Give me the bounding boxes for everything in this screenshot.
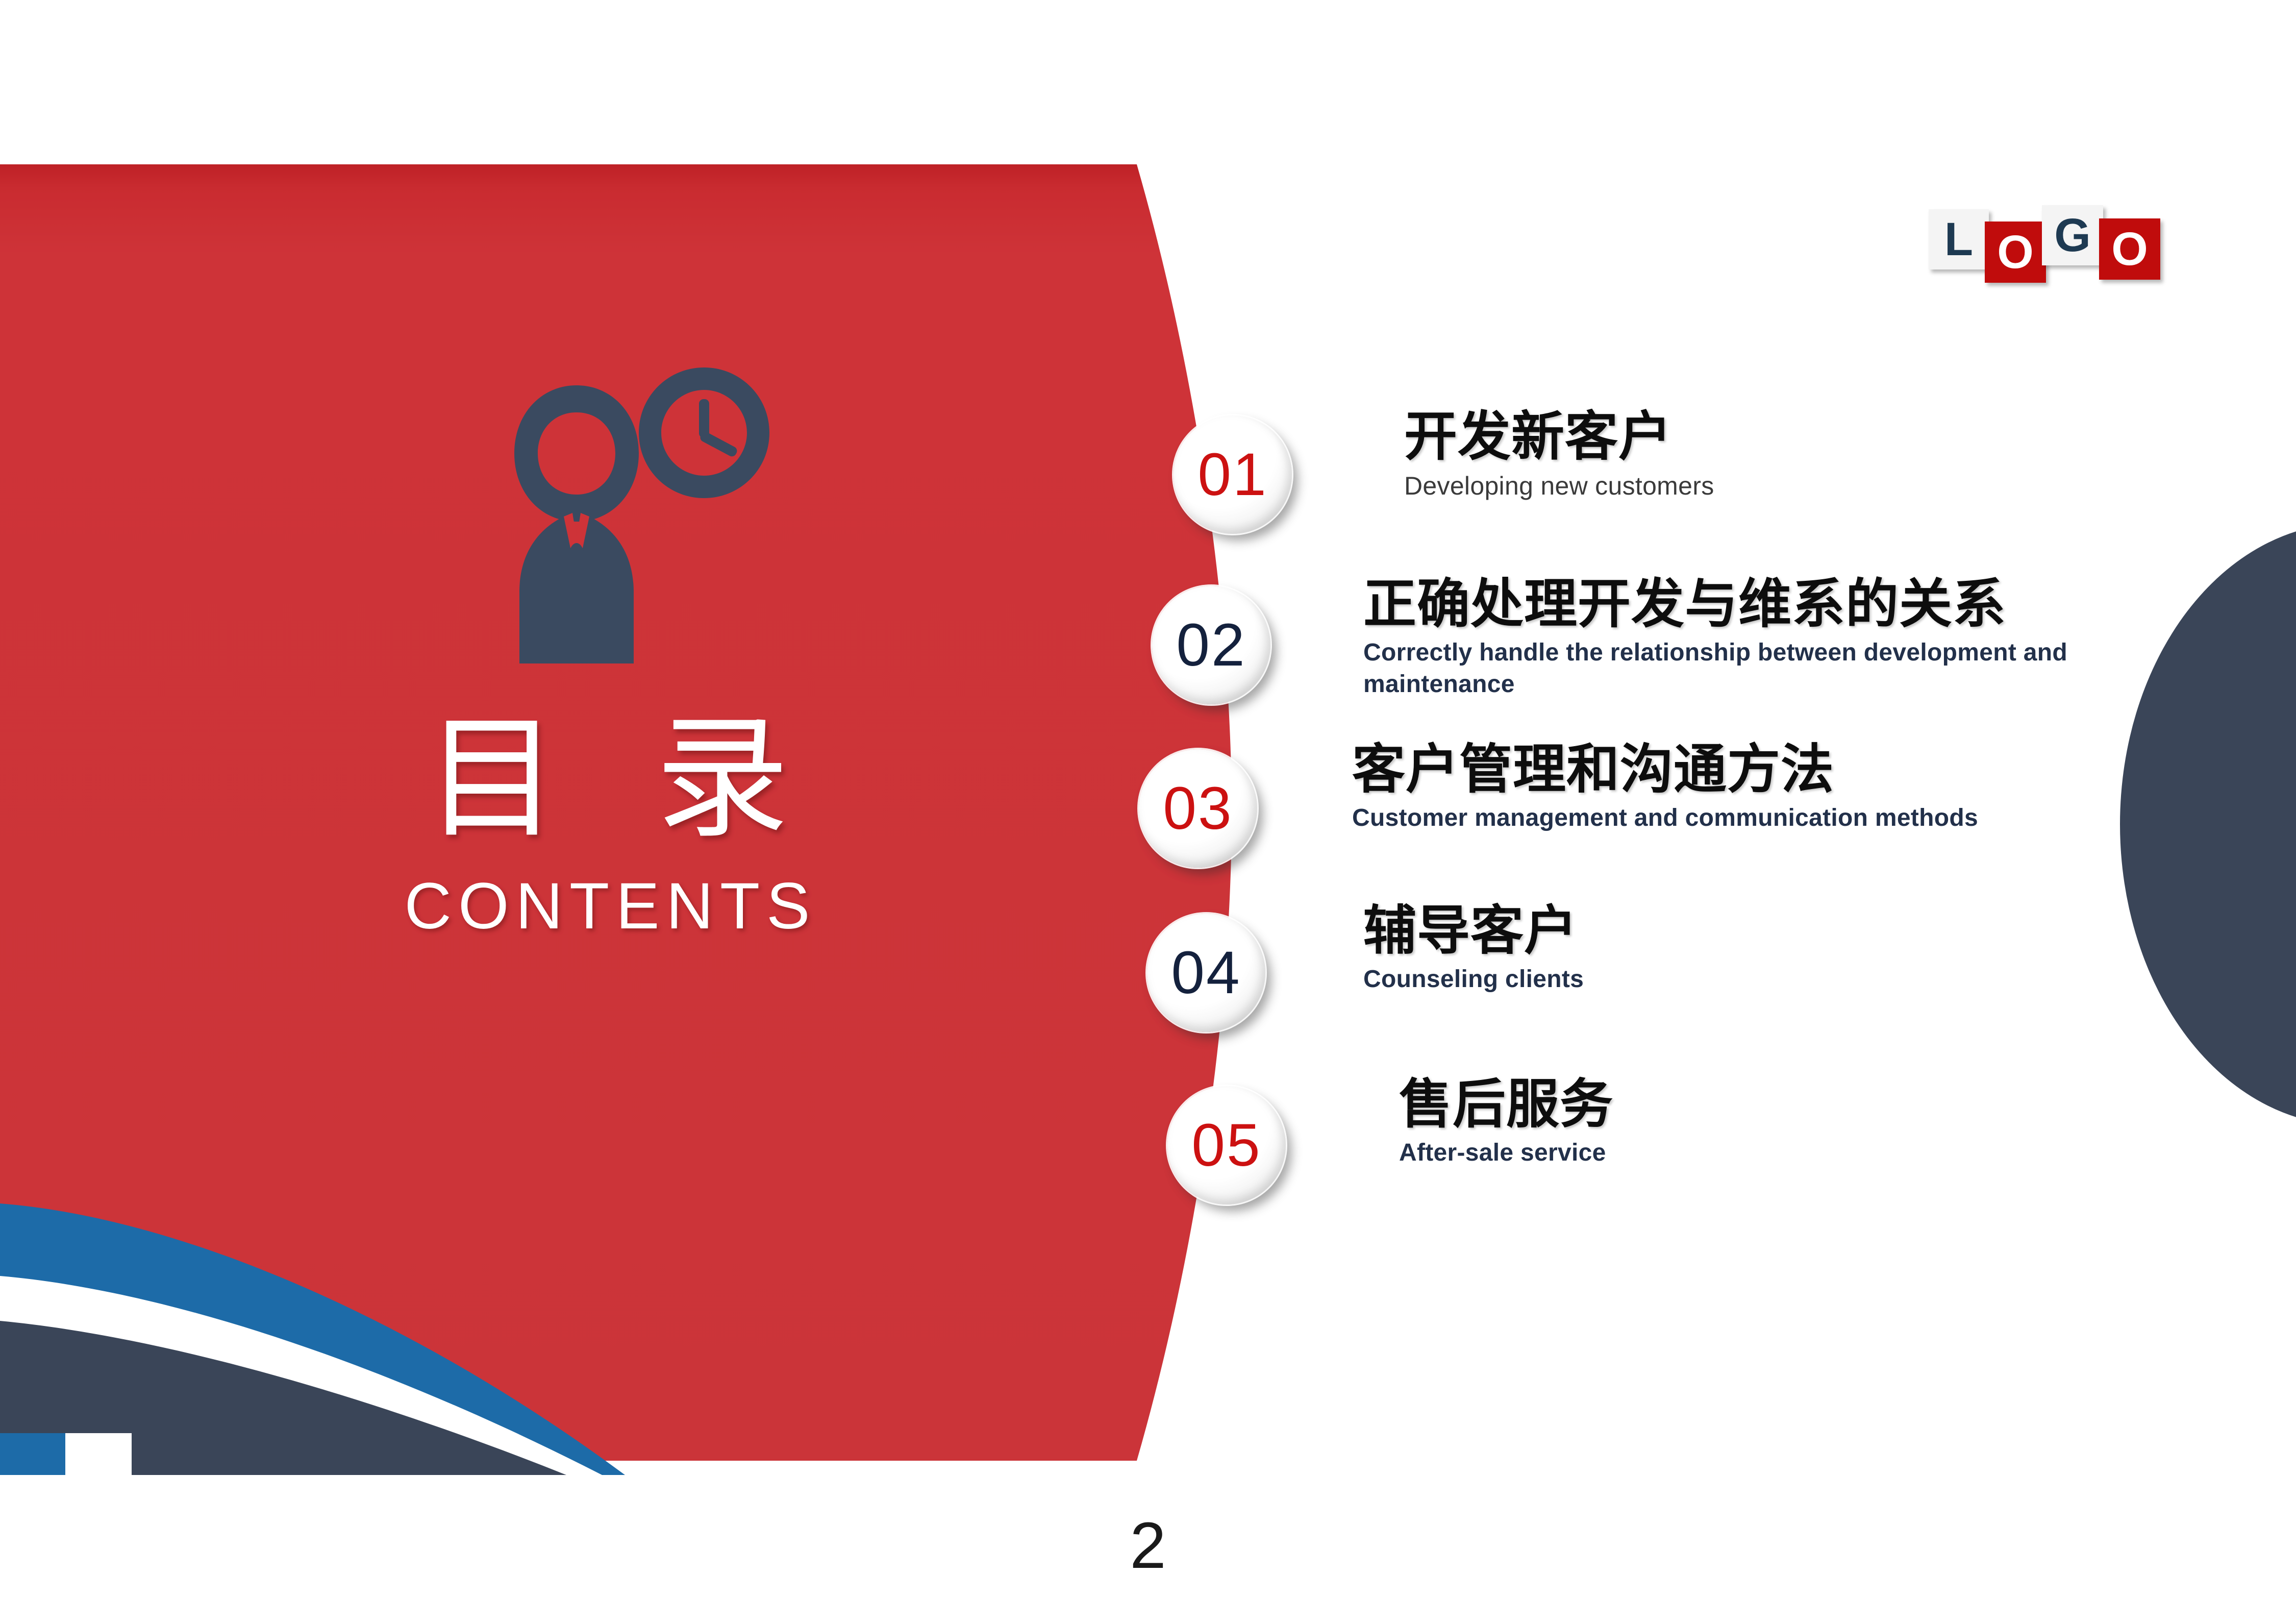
agenda-subtitle-05: After-sale service [1399,1137,2195,1168]
agenda-title-02: 正确处理开发与维系的关系 [1363,576,2124,633]
agenda-list: 01 开发新客户 Developing new customers 02 正确处… [0,0,2296,1623]
agenda-subtitle-04: Counseling clients [1363,964,2159,995]
agenda-subtitle-01: Developing new customers [1404,470,2200,502]
agenda-number-04: 04 [1171,943,1241,1003]
agenda-badge-01[interactable]: 01 [1174,415,1292,534]
agenda-number-01: 01 [1197,445,1267,505]
page-number: 2 [1097,1508,1199,1583]
agenda-title-04: 辅导客户 [1363,902,2159,960]
agenda-number-05: 05 [1191,1115,1261,1175]
agenda-badge-02[interactable]: 02 [1152,586,1270,704]
agenda-title-01: 开发新客户 [1404,408,2200,465]
agenda-title-03: 客户管理和沟通方法 [1352,741,2148,798]
agenda-number-02: 02 [1176,615,1246,675]
agenda-badge-03[interactable]: 03 [1139,749,1257,868]
agenda-badge-05[interactable]: 05 [1167,1086,1286,1204]
agenda-title-05: 售后服务 [1399,1076,2195,1133]
agenda-subtitle-03: Customer management and communication me… [1352,802,2148,833]
agenda-number-03: 03 [1163,778,1233,839]
agenda-badge-04[interactable]: 04 [1147,914,1265,1032]
agenda-subtitle-02: Correctly handle the relationship betwee… [1363,637,2124,700]
presentation-slide: 目 录 CONTENTS L O G O 01 开发新客户 Developing… [0,0,2296,1623]
